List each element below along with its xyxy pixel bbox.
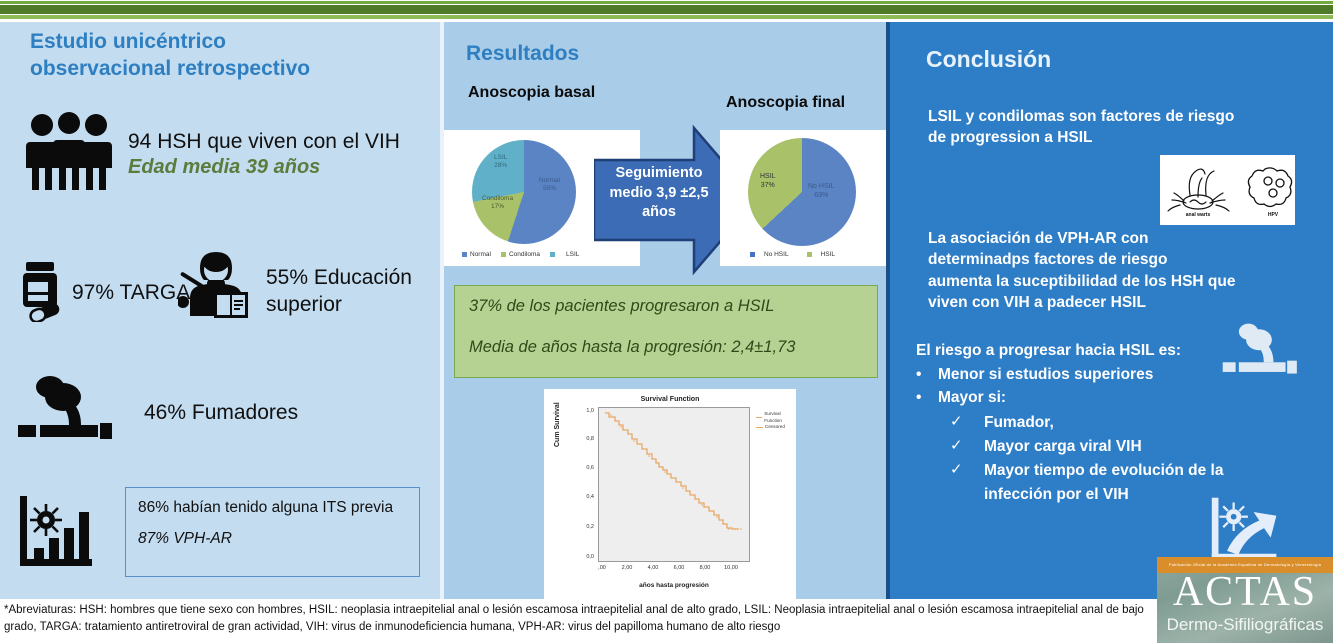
survival-y-tick-3: 0,6 [572, 465, 594, 471]
check-text-3: infección por el VIH [984, 484, 1129, 505]
survival-legend: Survival Function Censored [756, 411, 796, 431]
pie-final-label-nohsil: No HSIL 63% [808, 182, 834, 200]
progression-result-box: 37% de los pacientes progresaron a HSIL … [454, 285, 878, 378]
left-title-line-2: observacional retrospectivo [30, 55, 420, 82]
legend-swatch-lsil [550, 252, 555, 257]
bullet-text-1: Mayor si: [938, 387, 1006, 408]
actas-logo-title: ACTAS [1157, 571, 1333, 613]
legend-swatch-normal [462, 252, 467, 257]
stat-education-main: 55% Educación [266, 265, 412, 291]
conclusion-paragraph-1: LSIL y condilomas son factores de riesgo… [928, 106, 1298, 149]
legend-item-normal: Normal [462, 251, 491, 258]
progression-line-2: Media de años hasta la progresión: 2,4±1… [469, 338, 863, 357]
stat-targa-main: 97% TARGA [72, 280, 190, 306]
its-line-2: 87% VPH-AR [138, 530, 407, 548]
bullet-text-0: Menor si estudios superiores [938, 364, 1153, 385]
check-marker-3 [950, 484, 984, 505]
legend-item-no-hsil: No HSIL [750, 251, 789, 258]
conclusion-p2-line-2: determinadps factores de riesgo [928, 249, 1308, 270]
right-column: Conclusión LSIL y condilomas son factore… [890, 22, 1333, 599]
pie-chart-final [748, 138, 856, 246]
risk-check-0: ✓ Fumador, [950, 412, 1054, 433]
legend-swatch-condiloma [501, 252, 506, 257]
chart-final-title: Anoscopia final [726, 94, 845, 112]
survival-y-tick-1: 0,2 [572, 524, 594, 530]
anal-warts-hpv-image: anal warts HPV [1160, 155, 1295, 225]
infographic-poster: Estudio unicéntrico observacional retros… [0, 0, 1333, 643]
legend-swatch-hsil [807, 252, 812, 257]
middle-column: Resultados Anoscopia basal Anoscopia fin… [444, 22, 888, 599]
survival-chart-title: Survival Function [544, 396, 796, 403]
survival-x-axis-label: años hasta progresión [598, 582, 750, 589]
bullet-marker-0: • [916, 364, 938, 385]
legend-swatch-no-hsil [750, 252, 755, 257]
pie-final-legend: No HSIL HSIL [750, 251, 835, 258]
left-column-title: Estudio unicéntrico observacional retros… [30, 28, 420, 83]
survival-x-tick-5: 10,00 [720, 565, 742, 571]
actas-logo-subtitle: Dermo-Sifiliográficas [1157, 615, 1333, 635]
stat-population-sub: Edad media 39 años [128, 155, 400, 180]
survival-chart-card: Survival Function Cum Survival 0,0 0,2 0… [544, 389, 796, 604]
cigarette-icon [16, 375, 120, 452]
survival-y-tick-0: 0,0 [572, 554, 594, 560]
risk-check-2: ✓ Mayor tiempo de evolución de la [950, 460, 1223, 481]
top-green-band [0, 0, 1333, 22]
chart-basal-title: Anoscopia basal [468, 84, 595, 102]
check-marker-0: ✓ [950, 412, 984, 433]
results-title: Resultados [466, 42, 579, 66]
virus-bar-chart-icon [16, 492, 96, 577]
survival-x-tick-4: 8,00 [694, 565, 716, 571]
survival-x-tick-0: ,00 [591, 565, 613, 571]
conclusion-p2-line-1: La asociación de VPH-AR con [928, 228, 1308, 249]
survival-legend-item-1: Censored [756, 424, 796, 431]
stat-education-main2: superior [266, 292, 412, 318]
warts-label-left: anal warts [1176, 212, 1220, 218]
its-line-1: 86% habían tenido alguna ITS previa [138, 498, 407, 517]
pie-basal-label-lsil: LSIL 28% [494, 154, 507, 170]
band-stripe-light [0, 1, 1333, 4]
band-stripe-dark [0, 5, 1333, 14]
legend-dash-survival [756, 417, 762, 418]
conclusion-p2-line-4: viven con VIH a padecer HSIL [928, 292, 1308, 313]
pie-card-final: No HSIL 63% HSIL 37% No HSIL HSIL [720, 130, 888, 266]
legend-dash-censored [756, 427, 763, 428]
conclusion-paragraph-2: La asociación de VPH-AR con determinadps… [928, 228, 1308, 314]
pie-final-label-hsil: HSIL 37% [760, 172, 776, 190]
pie-basal-label-normal: Normal 55% [539, 177, 560, 193]
abbreviations-footnote: *Abreviaturas: HSH: hombres que tiene se… [0, 600, 1150, 643]
pie-basal-label-condiloma: Condiloma 17% [482, 195, 513, 211]
arrow-line-3: años [604, 203, 714, 223]
legend-item-hsil: HSIL [807, 251, 835, 258]
survival-x-tick-1: 2,00 [616, 565, 638, 571]
left-title-line-1: Estudio unicéntrico [30, 28, 420, 55]
bullet-marker-1: • [916, 387, 938, 408]
arrow-line-2: medio 3,9 ±2,5 [604, 184, 714, 204]
warts-label-right: HPV [1251, 212, 1295, 218]
survival-x-tick-2: 4,00 [642, 565, 664, 571]
smoking-icon-white [1220, 322, 1306, 385]
stat-row-education: 55% Educación superior [178, 250, 412, 333]
check-marker-1: ✓ [950, 436, 984, 457]
stat-row-its [16, 492, 96, 577]
stat-row-smokers: 46% Fumadores [16, 375, 298, 452]
risk-check-1: ✓ Mayor carga viral VIH [950, 436, 1142, 457]
check-marker-2: ✓ [950, 460, 984, 481]
stat-row-targa: 97% TARGA [18, 260, 190, 327]
conclusion-p2-line-3: aumenta la suceptibilidad de los HSH que [928, 271, 1308, 292]
arrow-line-1: Seguimiento [604, 164, 714, 184]
stat-smokers-main: 46% Fumadores [144, 400, 298, 426]
conclusion-title: Conclusión [926, 46, 1051, 73]
check-text-1: Mayor carga viral VIH [984, 436, 1142, 457]
legend-item-condiloma: Condiloma [501, 251, 540, 258]
pie-basal-legend: Normal Condiloma LSIL [462, 251, 579, 258]
conclusion-p1-line-1: LSIL y condilomas son factores de riesgo [928, 106, 1298, 127]
actas-journal-logo: Publicación Oficial de la Academia Españ… [1157, 557, 1333, 643]
survival-y-tick-2: 0,4 [572, 494, 594, 500]
its-info-box: 86% habían tenido alguna ITS previa 87% … [125, 487, 420, 577]
check-text-0: Fumador, [984, 412, 1054, 433]
risk-header: El riesgo a progresar hacia HSIL es: [916, 340, 1181, 361]
check-text-2: Mayor tiempo de evolución de la [984, 460, 1223, 481]
pie-chart-basal [472, 140, 576, 244]
risk-check-3: infección por el VIH [950, 484, 1129, 505]
stat-row-population: 94 HSH que viven con el VIH Edad media 3… [22, 112, 400, 197]
risk-bullet-1: • Mayor si: [916, 387, 1006, 408]
survival-y-tick-5: 1,0 [572, 408, 594, 414]
stat-population-main: 94 HSH que viven con el VIH [128, 129, 400, 155]
survival-y-tick-4: 0,8 [572, 436, 594, 442]
conclusion-p1-line-2: de progression a HSIL [928, 127, 1298, 148]
teacher-book-icon [178, 250, 256, 333]
three-people-icon [22, 112, 122, 197]
legend-item-lsil: LSIL [550, 251, 579, 258]
risk-bullet-0: • Menor si estudios superiores [916, 364, 1153, 385]
progression-line-1: 37% de los pacientes progresaron a HSIL [469, 297, 863, 316]
survival-x-tick-3: 6,00 [668, 565, 690, 571]
survival-legend-item-0: Survival Function [756, 411, 796, 424]
pill-bottle-icon [18, 260, 70, 327]
survival-y-axis-label: Cum Survival [554, 402, 561, 447]
band-stripe-mid [0, 15, 1333, 19]
survival-plot-area [598, 407, 750, 562]
arrow-label: Seguimiento medio 3,9 ±2,5 años [604, 164, 714, 223]
